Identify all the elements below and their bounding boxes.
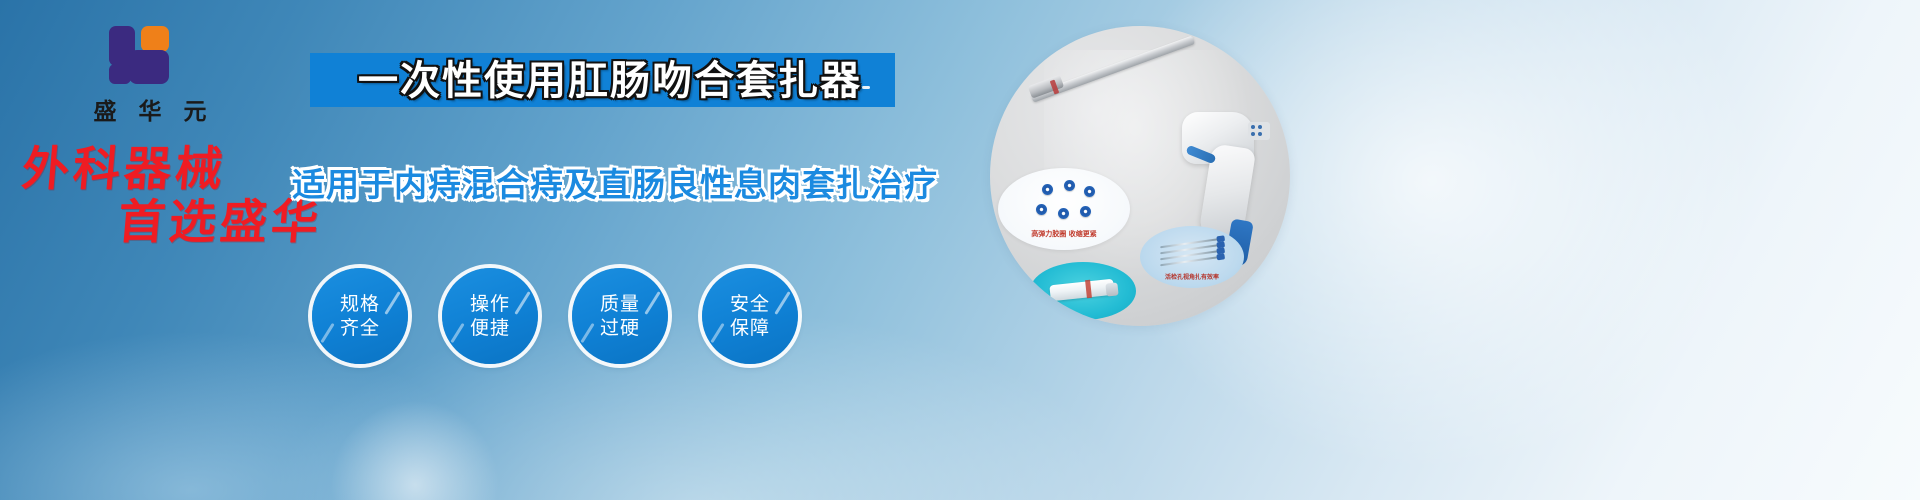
feature-label-line1: 规格 (340, 292, 380, 316)
inset-rods-caption: 活检孔视角扎有效率 (1140, 272, 1244, 281)
slash-decoration-icon (450, 323, 464, 343)
slash-decoration-icon (644, 291, 660, 315)
inset-disposable-tube (1030, 262, 1136, 320)
slash-decoration-icon (580, 323, 594, 343)
slogan-line-2: 首选盛华 (116, 199, 354, 248)
instrument-button-panel (1248, 122, 1270, 140)
slash-decoration-icon (710, 323, 724, 343)
feature-badge-safety[interactable]: 安全 保障 (702, 268, 798, 364)
feature-badge-list: 规格 齐全 操作 便捷 质量 过硬 安全 保障 (312, 268, 798, 364)
decorative-circle (330, 400, 500, 500)
feature-label-line1: 操作 (470, 292, 510, 316)
slash-decoration-icon (514, 291, 530, 315)
feature-badge-spec[interactable]: 规格 齐全 (312, 268, 408, 364)
product-photo: 高弹力胶圈 收缩更紧 活检孔视角扎有效率 (990, 26, 1290, 326)
feature-label-line2: 保障 (730, 316, 770, 340)
page-subtitle: 适用于内痔混合痔及直肠良性息肉套扎治疗 (292, 158, 904, 206)
feature-label-line1: 质量 (600, 292, 640, 316)
brand-name: 盛 华 元 (60, 92, 240, 126)
feature-badge-operation[interactable]: 操作 便捷 (442, 268, 538, 364)
feature-label-line1: 安全 (730, 292, 770, 316)
promo-banner: 盛 华 元 外科器械 首选盛华 一次性使用肛肠吻合套扎器 适用于内痔混合痔及直肠… (0, 0, 1920, 500)
inset-rings-caption: 高弹力胶圈 收缩更紧 (998, 229, 1130, 239)
feature-label-line2: 齐全 (340, 316, 380, 340)
logo-mark-icon (107, 24, 193, 86)
brand-logo[interactable]: 盛 华 元 (60, 24, 240, 124)
feature-badge-quality[interactable]: 质量 过硬 (572, 268, 668, 364)
inset-rubber-rings: 高弹力胶圈 收缩更紧 (998, 168, 1130, 250)
slash-decoration-icon (384, 291, 400, 315)
inset-applicator-rods: 活检孔视角扎有效率 (1140, 226, 1244, 288)
feature-label-line2: 过硬 (600, 316, 640, 340)
feature-label-line2: 便捷 (470, 316, 510, 340)
page-title: 一次性使用肛肠吻合套扎器 (330, 56, 890, 106)
slash-decoration-icon (320, 323, 334, 343)
slash-decoration-icon (774, 291, 790, 315)
